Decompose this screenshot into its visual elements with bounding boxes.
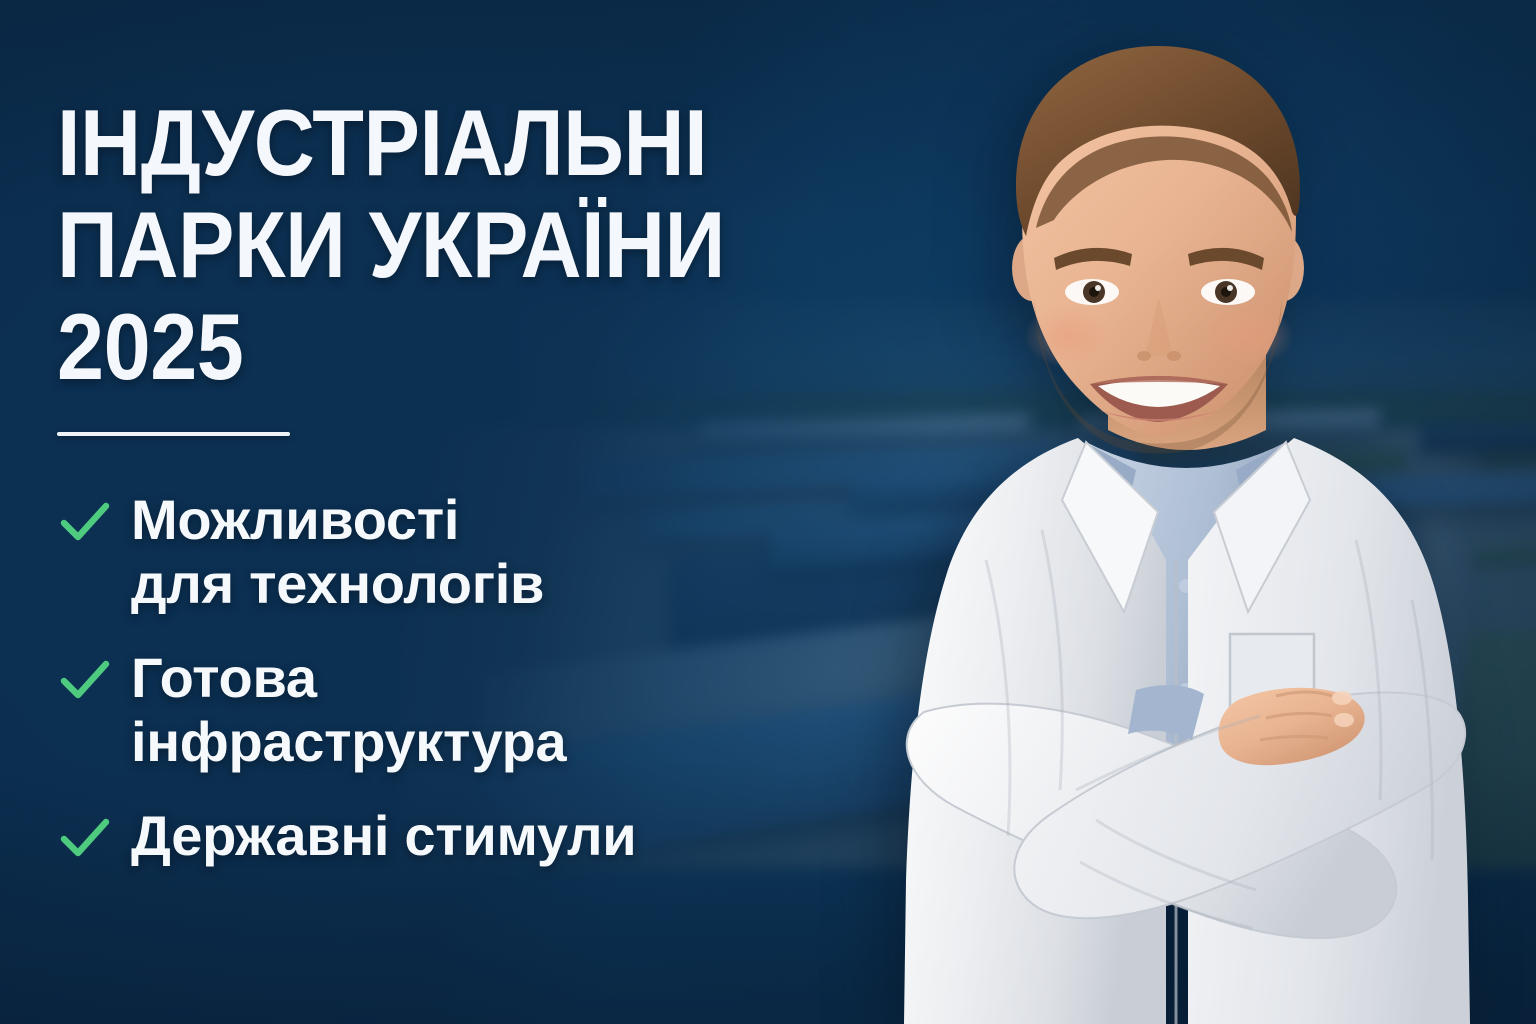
list-item: Державні стимули (57, 804, 900, 868)
person-illustration (836, 0, 1536, 1024)
check-icon (57, 652, 113, 708)
headline-line-1: ІНДУСТРІАЛЬНІ (57, 92, 816, 194)
headline-line-3: 2025 (57, 296, 816, 398)
check-icon (57, 494, 113, 550)
feature-list: Можливості для технологів Готова інфраст… (57, 488, 900, 868)
cheek-left (1024, 304, 1112, 368)
eye-highlight-right (1227, 285, 1233, 291)
text-panel: ІНДУСТРІАЛЬНІ ПАРКИ УКРАЇНИ 2025 Можливо… (0, 0, 900, 1024)
list-item-label: Готова інфраструктура (131, 646, 566, 774)
page-title: ІНДУСТРІАЛЬНІ ПАРКИ УКРАЇНИ 2025 (57, 92, 816, 398)
nostril-left (1137, 351, 1151, 361)
headline-line-2: ПАРКИ УКРАЇНИ (57, 194, 816, 296)
list-item: Готова інфраструктура (57, 646, 900, 774)
fingernail (1332, 691, 1352, 705)
eye-highlight-left (1095, 285, 1101, 291)
fingernail (1334, 713, 1354, 727)
nostril-right (1167, 351, 1181, 361)
title-divider (57, 432, 290, 436)
poster-canvas: ІНДУСТРІАЛЬНІ ПАРКИ УКРАЇНИ 2025 Можливо… (0, 0, 1536, 1024)
check-icon (57, 810, 113, 866)
list-item-label: Державні стимули (131, 804, 636, 868)
list-item-label: Можливості для технологів (131, 488, 544, 616)
list-item: Можливості для технологів (57, 488, 900, 616)
